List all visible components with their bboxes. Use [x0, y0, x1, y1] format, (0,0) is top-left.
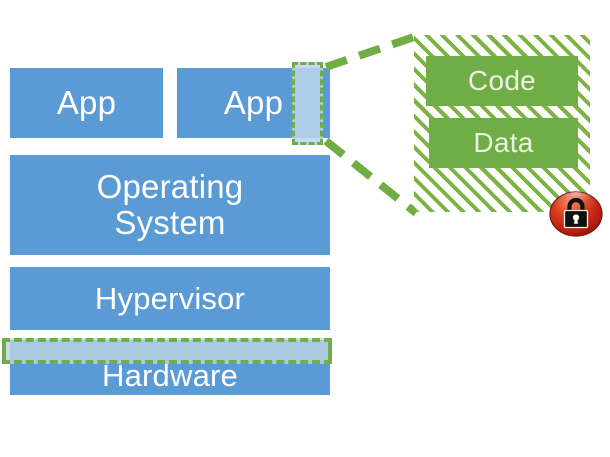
enclave-code-label: Code: [468, 65, 536, 97]
stack-block-label: App: [224, 85, 283, 121]
padlock-icon: [549, 187, 603, 241]
stack-block-label: Hypervisor: [95, 282, 245, 315]
enclave-data-label: Data: [473, 127, 533, 159]
connector-top-line: [326, 37, 414, 67]
enclave-region-highlight: [292, 62, 323, 145]
hardware-enclave-band-cap-left: [2, 340, 6, 362]
stack-block-label: App: [57, 85, 116, 121]
stack-block-operating-system: Operating System: [10, 155, 330, 255]
hardware-enclave-band: [2, 338, 332, 364]
stack-block-label: Operating System: [97, 169, 244, 240]
enclave-data-box: Data: [429, 118, 578, 168]
connector-bottom-line: [326, 141, 416, 213]
stack-block-hypervisor: Hypervisor: [10, 267, 330, 330]
stack-block-app-1: App: [10, 68, 163, 138]
hardware-enclave-band-cap-right: [328, 340, 332, 362]
diagram-canvas: App App Operating System Hypervisor Hard…: [0, 0, 610, 457]
enclave-code-box: Code: [426, 56, 578, 106]
